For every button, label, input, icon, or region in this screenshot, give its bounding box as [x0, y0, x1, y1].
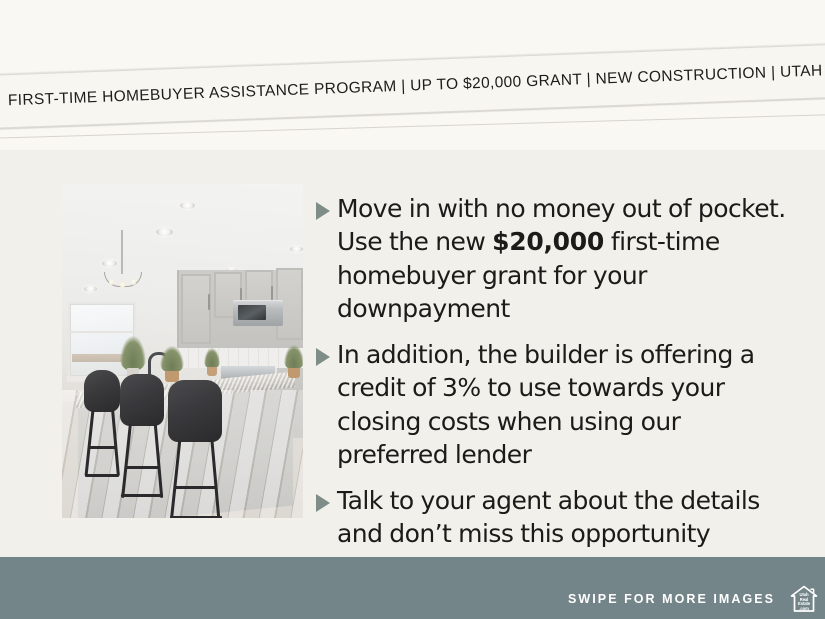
pendant-bulb — [109, 278, 114, 285]
cabinet-handle — [271, 286, 273, 300]
bullet-2-pre: In addition, the builder is offering a c… — [337, 340, 755, 469]
stool-leg — [170, 440, 181, 518]
triangle-bullet-icon — [316, 202, 330, 220]
bar-stool — [120, 374, 172, 494]
recessed-light-icon — [180, 202, 195, 209]
stool-leg — [111, 410, 119, 476]
stool-leg — [121, 424, 131, 498]
stool-base-bar — [85, 474, 119, 477]
stool-base-bar — [121, 494, 163, 497]
logo-line-4: .com — [789, 607, 819, 612]
stool-footrest — [88, 446, 116, 449]
list-item: Talk to your agent about the details and… — [316, 484, 786, 551]
recessed-light-icon — [156, 228, 173, 236]
bar-stool — [168, 380, 230, 516]
stool-leg — [154, 424, 163, 498]
plant-leaves — [120, 336, 146, 370]
potted-plant — [284, 342, 303, 378]
stool-leg — [210, 440, 220, 518]
recessed-light-icon — [290, 246, 303, 252]
cabinet-door — [181, 274, 211, 344]
plant-leaves — [284, 345, 303, 369]
bullet-text-1: Move in with no money out of pocket. Use… — [337, 192, 786, 325]
footer-bar: SWIPE FOR MORE IMAGES Utah Real Estate .… — [0, 557, 825, 619]
top-banner-area: FIRST-TIME HOMEBUYER ASSISTANCE PROGRAM … — [0, 0, 825, 150]
recessed-light-icon — [102, 260, 117, 267]
pendant-bulb — [120, 281, 125, 288]
utah-real-estate-logo-icon[interactable]: Utah Real Estate .com — [789, 584, 819, 614]
microwave-appliance — [233, 300, 283, 326]
stool-seat — [120, 374, 164, 426]
bullet-text-2: In addition, the builder is offering a c… — [337, 338, 786, 471]
list-item: Move in with no money out of pocket. Use… — [316, 192, 786, 325]
bullet-text-3: Talk to your agent about the details and… — [337, 484, 786, 551]
plant-pot — [288, 368, 300, 378]
bullet-3-pre: Talk to your agent about the details and… — [337, 486, 760, 548]
potted-plant — [204, 344, 220, 376]
stool-seat — [84, 370, 120, 412]
stool-base-bar — [170, 516, 222, 518]
microwave-door-glass — [238, 305, 266, 320]
pendant-bulb — [131, 278, 136, 285]
kitchen-photo — [62, 184, 303, 518]
swipe-for-more-images-label: SWIPE FOR MORE IMAGES — [568, 592, 775, 606]
stool-seat — [168, 380, 222, 442]
triangle-bullet-icon — [316, 348, 330, 366]
promo-banner-text: FIRST-TIME HOMEBUYER ASSISTANCE PROGRAM … — [8, 59, 825, 110]
stool-leg — [85, 410, 94, 476]
plant-leaves — [160, 346, 184, 372]
stool-footrest — [125, 466, 159, 469]
main-content-area: Move in with no money out of pocket. Use… — [0, 150, 825, 557]
bullet-1-emphasis: $20,000 — [492, 227, 604, 256]
stool-footrest — [174, 486, 216, 489]
slide-canvas: FIRST-TIME HOMEBUYER ASSISTANCE PROGRAM … — [0, 0, 825, 619]
plant-pot — [207, 367, 217, 376]
logo-wordmark: Utah Real Estate .com — [789, 593, 819, 611]
triangle-bullet-icon — [316, 494, 330, 512]
cabinet-handle — [208, 294, 210, 310]
benefits-list: Move in with no money out of pocket. Use… — [316, 192, 786, 564]
pendant-cord — [121, 230, 123, 274]
list-item: In addition, the builder is offering a c… — [316, 338, 786, 471]
kitchen-photo-image — [62, 184, 303, 518]
plant-leaves — [204, 348, 220, 368]
recessed-light-icon — [84, 286, 97, 292]
